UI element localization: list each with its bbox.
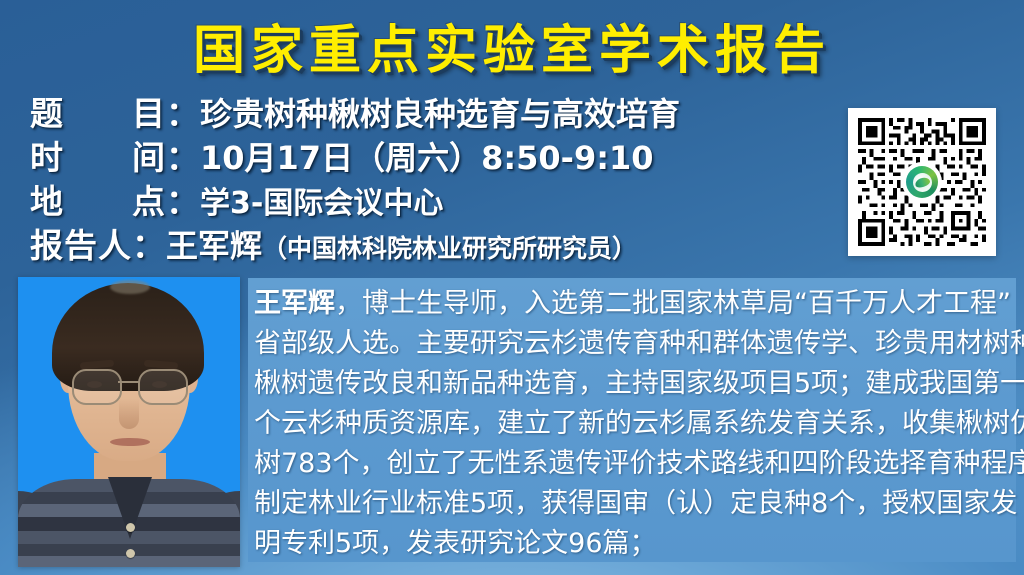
info-label-speaker: 报告人：	[30, 224, 166, 268]
glasses-lens-left	[72, 369, 122, 405]
info-row-time: 时 间： 10月17日（周六）8:50-9:10	[30, 136, 850, 180]
speaker-portrait-icon	[18, 277, 240, 567]
info-value-topic: 珍贵树种楸树良种选育与高效培育	[200, 92, 680, 136]
info-label-location: 地 点：	[30, 180, 200, 224]
info-label-time: 时 间：	[30, 136, 200, 180]
qr-code-card[interactable]	[848, 108, 996, 256]
bio-line: 楸树遗传改良和新品种选育，主持国家级项目5项；建成我国第一	[254, 364, 1012, 404]
info-row-location: 地 点： 学3-国际会议中心	[30, 180, 850, 224]
bio-line: 王军辉，博士生导师，入选第二批国家林草局“百千万人才工程”	[254, 284, 1012, 324]
green-swirl-logo-icon	[904, 164, 940, 200]
portrait-button-2	[126, 549, 135, 558]
info-value-location: 学3-国际会议中心	[200, 182, 443, 226]
speaker-bio-panel: 王军辉，博士生导师，入选第二批国家林草局“百千万人才工程” 省部级人选。主要研究…	[248, 278, 1016, 562]
info-row-topic: 题 目： 珍贵树种楸树良种选育与高效培育	[30, 92, 850, 136]
bio-line-text: ，博士生导师，入选第二批国家林草局“百千万人才工程”	[335, 288, 1011, 319]
bio-line: 省部级人选。主要研究云杉遗传育种和群体遗传学、珍贵用材树种	[254, 324, 1012, 364]
info-label-topic: 题 目：	[30, 92, 200, 136]
bio-line: 制定林业行业标准5项，获得国审（认）定良种8个，授权国家发	[254, 484, 1012, 524]
bio-speaker-name: 王军辉	[254, 288, 335, 319]
bio-line: 个云杉种质资源库，建立了新的云杉属系统发育关系，收集楸树优	[254, 404, 1012, 444]
info-value-speaker-affiliation: （中国林科院林业研究所研究员）	[262, 227, 637, 271]
info-row-speaker: 报告人： 王军辉 （中国林科院林业研究所研究员）	[30, 224, 850, 268]
poster-root: 国家重点实验室学术报告 题 目： 珍贵树种楸树良种选育与高效培育 时 间： 10…	[0, 0, 1024, 575]
info-value-speaker: 王军辉	[166, 224, 262, 268]
glasses-lens-right	[138, 369, 188, 405]
info-block: 题 目： 珍贵树种楸树良种选育与高效培育 时 间： 10月17日（周六）8:50…	[30, 92, 850, 268]
glasses-bridge	[118, 381, 140, 383]
logo-core	[913, 173, 932, 192]
bio-line: 明专利5项，发表研究论文96篇；	[254, 524, 1012, 564]
portrait-button-1	[126, 523, 135, 532]
bio-line: 树783个，创立了无性系遗传评价技术路线和四阶段选择育种程序。	[254, 444, 1012, 484]
info-value-time: 10月17日（周六）8:50-9:10	[200, 136, 654, 180]
portrait-mouth	[110, 438, 150, 446]
page-title: 国家重点实验室学术报告	[0, 8, 1024, 83]
portrait-nose	[119, 399, 139, 429]
logo-ring	[906, 166, 938, 198]
portrait-glasses-icon	[70, 369, 188, 403]
